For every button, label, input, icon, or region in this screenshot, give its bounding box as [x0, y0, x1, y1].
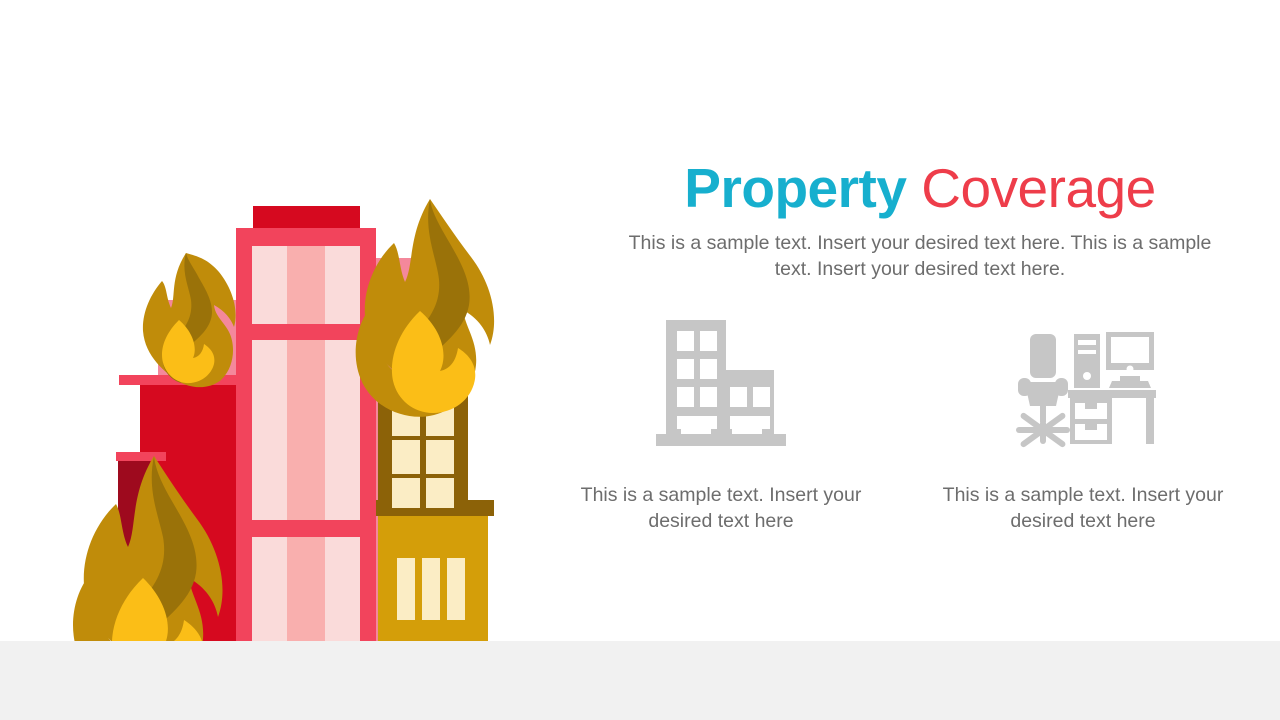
intro-paragraph: This is a sample text. Insert your desir… — [610, 230, 1230, 282]
feature-caption: This is a sample text. Insert your desir… — [571, 482, 871, 534]
footer-band — [0, 641, 1280, 720]
content-column: Property Coverage This is a sample text.… — [560, 0, 1280, 641]
slide-canvas: Property Coverage This is a sample text.… — [0, 0, 1280, 720]
feature-caption: This is a sample text. Insert your desir… — [933, 482, 1233, 534]
office-building-icon — [571, 300, 871, 450]
title-secondary: Coverage — [921, 157, 1155, 219]
flame-upper-right — [356, 199, 494, 417]
title-primary: Property — [684, 157, 906, 219]
feature-office-contents: This is a sample text. Insert your desir… — [933, 300, 1233, 534]
feature-property-building: This is a sample text. Insert your desir… — [571, 300, 871, 534]
right-brown-building — [374, 390, 494, 641]
central-red-tower — [236, 206, 376, 641]
burning-building-illustration — [0, 0, 560, 641]
page-title: Property Coverage — [560, 155, 1280, 221]
office-desk-computer-icon — [933, 300, 1233, 450]
